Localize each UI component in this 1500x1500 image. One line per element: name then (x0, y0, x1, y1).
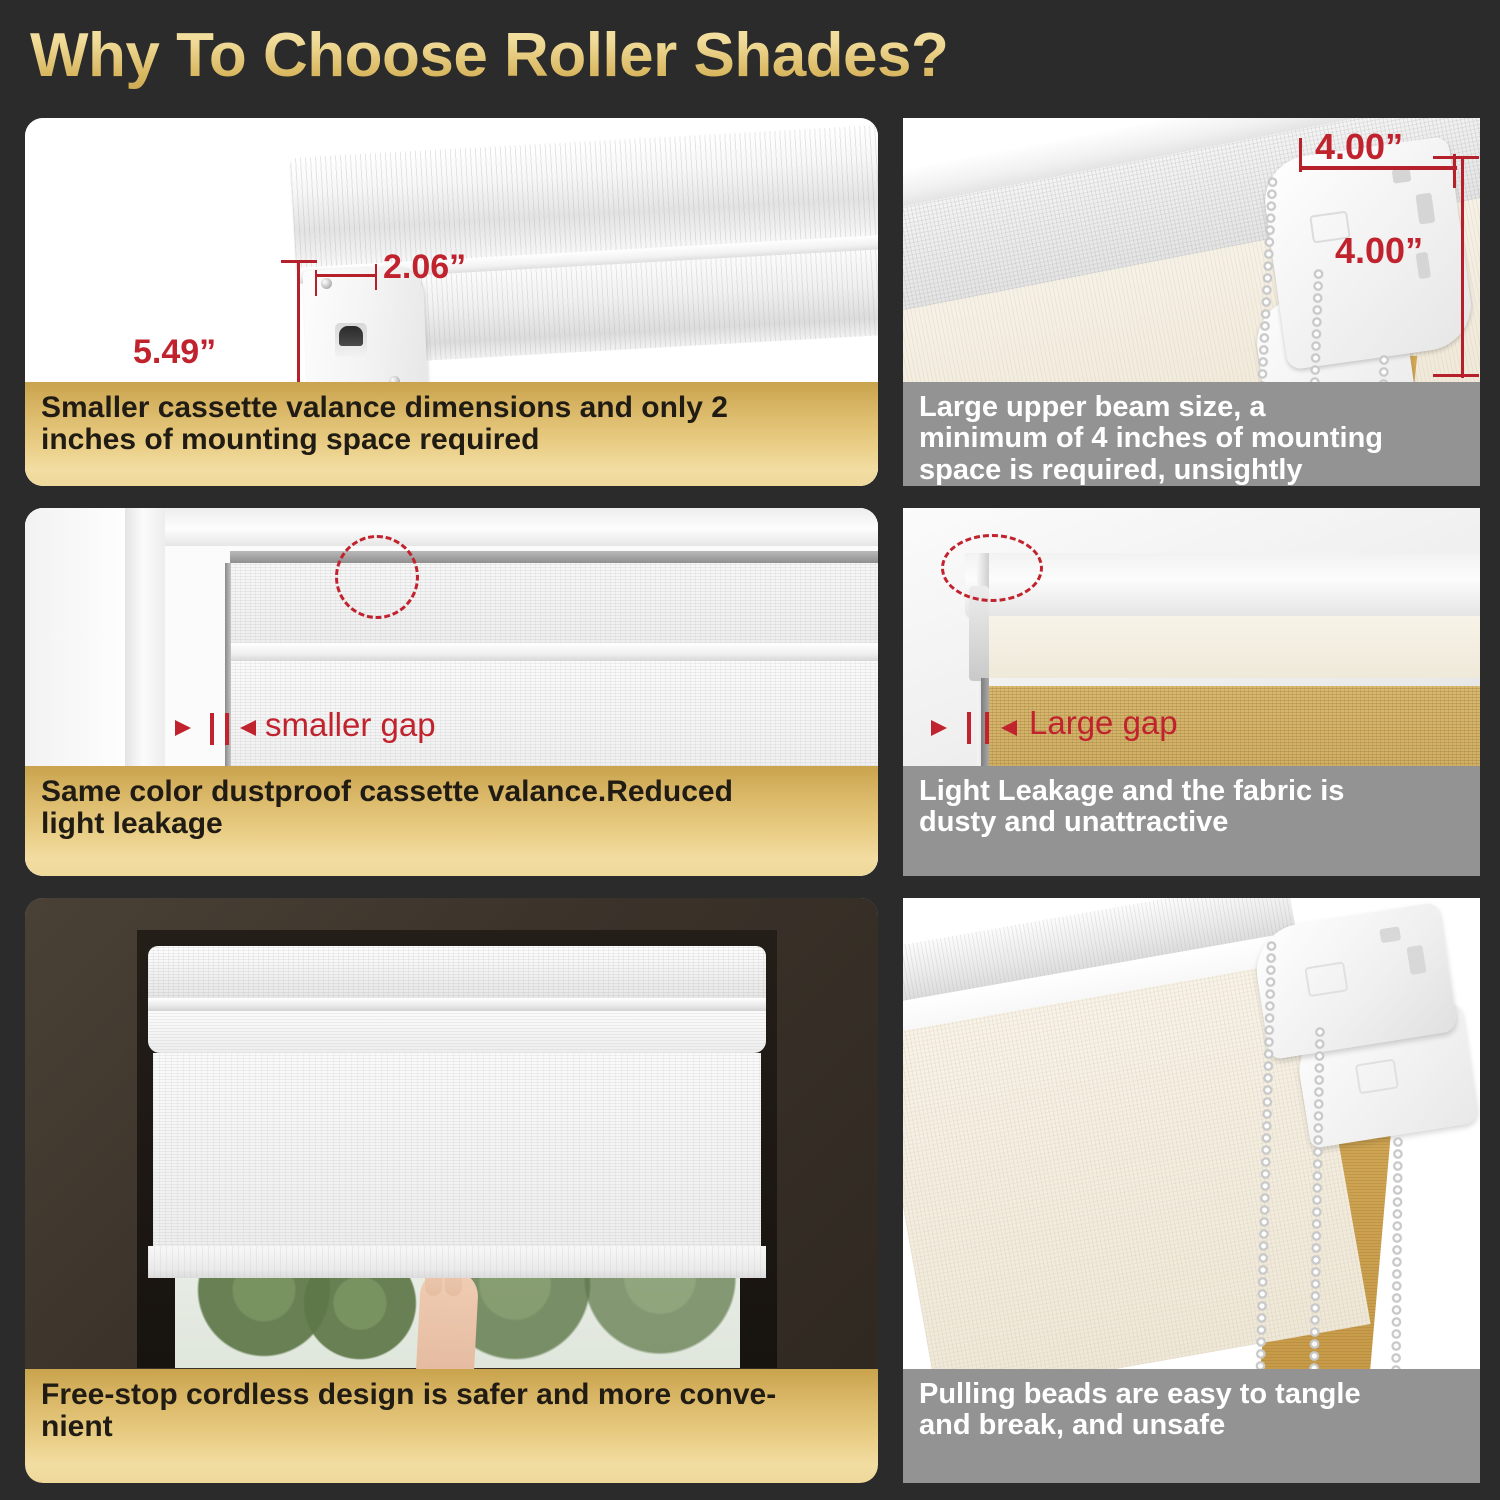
gap-tick-icon (985, 712, 989, 744)
panel-smaller-gap: smaller gap Same color dustproof cassett… (25, 508, 878, 876)
caption-panel-4: Light Leakage and the fabric is dusty an… (903, 766, 1480, 876)
dim-width-tick-right (1453, 154, 1456, 188)
caption-line: Light Leakage and the fabric is (919, 776, 1466, 807)
window-frame-top (125, 508, 878, 546)
page-title: Why To Choose Roller Shades? (30, 16, 1230, 96)
end-cap-slot-upper (335, 323, 367, 357)
dim-height-tick-top (1433, 156, 1479, 159)
caption-panel-3: Same color dustproof cassette valance.Re… (25, 766, 878, 876)
window-frame-side (125, 508, 165, 766)
shade-fabric (153, 1053, 761, 1251)
caption-line: nient (41, 1411, 864, 1443)
caption-line: Same color dustproof cassette valance.Re… (41, 776, 864, 808)
wall-surface (25, 508, 137, 766)
infographic-page: Why To Choose Roller Shades? (0, 0, 1500, 1500)
panel-cordless-design: Free-stop cordless design is safer and m… (25, 898, 878, 1483)
dim-width-label: 4.00” (1315, 126, 1403, 168)
panel-pulling-beads: Pulling beads are easy to tangle and bre… (903, 898, 1480, 1483)
bracket-slot-icon (1415, 193, 1435, 225)
caption-panel-1: Smaller cassette valance dimensions and … (25, 382, 878, 486)
panel-large-upper-beam: 4.00” 4.00” Large upper beam size, a min… (903, 118, 1480, 486)
gap-arrow-left-icon (240, 720, 256, 736)
caption-line: Free-stop cordless design is safer and m… (41, 1379, 864, 1411)
gap-tick-icon (225, 713, 229, 745)
caption-line: Large upper beam size, a (919, 392, 1466, 423)
head-rail (230, 551, 878, 563)
highlight-circle-icon (335, 535, 419, 619)
caption-line: dusty and unattractive (919, 807, 1466, 838)
screw-upper-icon (321, 278, 332, 289)
caption-line: space is required, unsightly (919, 455, 1466, 486)
middle-rail (230, 643, 878, 661)
bottom-rail (148, 1246, 766, 1278)
dim-height-line (1461, 156, 1464, 378)
panel-cassette-valance: 2.06” 5.49” Smaller cassette valance dim… (25, 118, 878, 486)
gap-label: Large gap (1029, 704, 1178, 742)
caption-panel-6: Pulling beads are easy to tangle and bre… (903, 1369, 1480, 1483)
caption-line: Pulling beads are easy to tangle (919, 1379, 1466, 1410)
caption-panel-5: Free-stop cordless design is safer and m… (25, 1369, 878, 1483)
dim-width-label: 2.06” (383, 248, 466, 287)
bracket-mark-icon (1355, 1058, 1399, 1094)
dim-height-tick-bottom (1433, 374, 1479, 377)
highlight-circle-icon (941, 534, 1043, 602)
gap-label: smaller gap (265, 706, 436, 744)
gap-arrow-left-icon (1001, 720, 1017, 736)
cassette-valance-front (148, 946, 766, 999)
dim-height-label: 4.00” (1335, 230, 1423, 272)
panel-grid: 2.06” 5.49” Smaller cassette valance dim… (25, 118, 1480, 1483)
dim-height-label: 5.49” (133, 333, 216, 372)
gap-arrow-right-icon (175, 720, 191, 736)
bracket-mark-icon (1304, 961, 1348, 997)
gap-arrow-right-icon (931, 720, 947, 736)
gap-tick-icon (967, 712, 971, 744)
gap-tick-icon (210, 713, 214, 745)
caption-line: Smaller cassette valance dimensions and … (41, 392, 864, 424)
caption-line: and break, and unsafe (919, 1410, 1466, 1441)
caption-line: light leakage (41, 808, 864, 840)
caption-line: inches of mounting space required (41, 424, 864, 456)
cassette-valance-roll (148, 1011, 766, 1053)
panel-large-gap: Large gap Light Leakage and the fabric i… (903, 508, 1480, 876)
shade-fabric-upper (230, 563, 878, 643)
caption-line: minimum of 4 inches of mounting (919, 423, 1466, 454)
bracket-slot-icon (1406, 945, 1426, 975)
caption-panel-2: Large upper beam size, a minimum of 4 in… (903, 382, 1480, 486)
fabric-cream-band (988, 616, 1480, 678)
bracket-slot-icon (1379, 926, 1401, 943)
valance-groove (148, 998, 766, 1012)
dim-width-line (315, 274, 377, 277)
bead-chain (1390, 1136, 1404, 1378)
dim-width-tick-right (375, 264, 377, 290)
dim-height-tick-top (281, 260, 317, 263)
